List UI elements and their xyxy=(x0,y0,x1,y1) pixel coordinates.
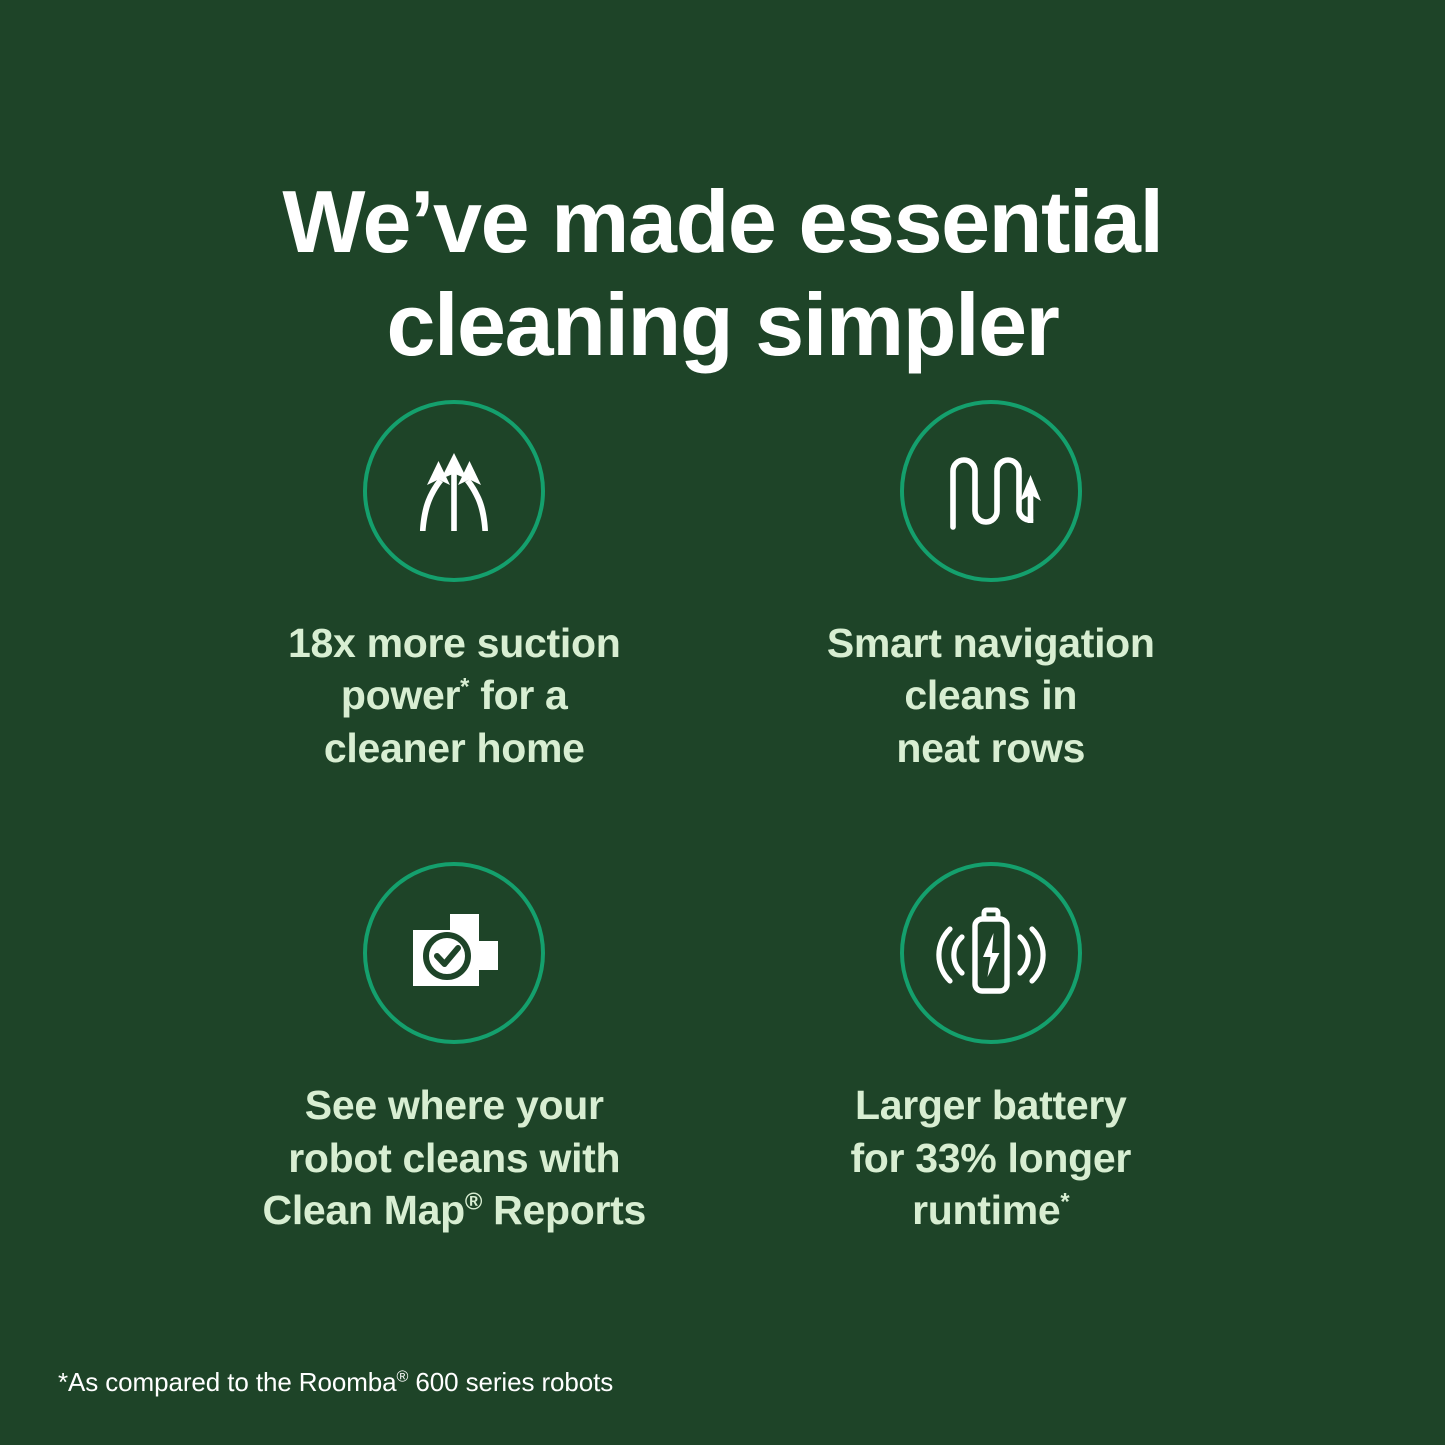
feature-card-navigation: Smart navigation cleans in neat rows xyxy=(723,400,1260,774)
feature-card-battery: Larger battery for 33% longer runtime* xyxy=(723,862,1260,1236)
caption-text-main: 18x more suction power xyxy=(288,620,620,718)
footnote-text-tail: 600 series robots xyxy=(408,1367,613,1397)
feature-grid: 18x more suction power* for a cleaner ho… xyxy=(186,400,1259,1237)
clean-map-report-icon xyxy=(363,862,545,1044)
caption-text-main: Smart navigation cleans in neat rows xyxy=(827,620,1155,771)
footnote-disclaimer: *As compared to the Roomba® 600 series r… xyxy=(58,1367,613,1398)
battery-charge-icon xyxy=(900,862,1082,1044)
feature-caption-clean-map: See where your robot cleans with Clean M… xyxy=(263,1079,646,1236)
caption-superscript-asterisk: * xyxy=(460,674,469,701)
suction-arrows-icon xyxy=(363,400,545,582)
feature-caption-battery: Larger battery for 33% longer runtime* xyxy=(850,1079,1131,1236)
page-headline: We’ve made essential cleaning simpler xyxy=(0,171,1445,377)
caption-text-main: Larger battery for 33% longer runtime xyxy=(850,1082,1131,1233)
serpentine-navigation-icon xyxy=(900,400,1082,582)
feature-caption-suction: 18x more suction power* for a cleaner ho… xyxy=(288,617,620,774)
caption-text-tail: Reports xyxy=(482,1187,646,1233)
feature-card-clean-map: See where your robot cleans with Clean M… xyxy=(186,862,723,1236)
caption-superscript-asterisk: * xyxy=(1060,1189,1069,1216)
feature-card-suction: 18x more suction power* for a cleaner ho… xyxy=(186,400,723,774)
caption-superscript-registered: ® xyxy=(465,1189,482,1216)
footnote-text-main: *As compared to the Roomba xyxy=(58,1367,396,1397)
feature-caption-navigation: Smart navigation cleans in neat rows xyxy=(827,617,1155,774)
footnote-superscript-registered: ® xyxy=(396,1367,408,1385)
promo-page: We’ve made essential cleaning simpler xyxy=(0,0,1445,1445)
